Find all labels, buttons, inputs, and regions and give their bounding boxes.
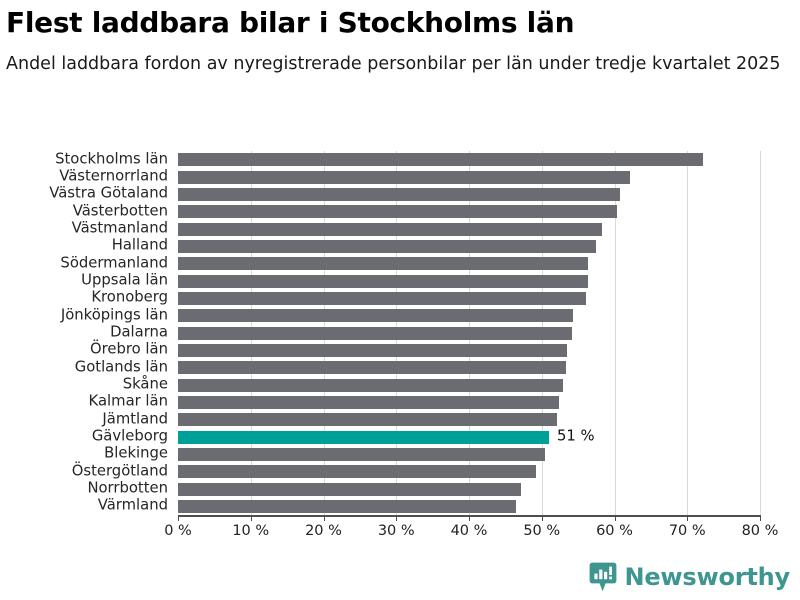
category-label: Dalarna (110, 326, 168, 341)
x-axis-tick (615, 515, 616, 521)
bar-chart-speech-bubble-icon (589, 562, 617, 592)
category-label: Kalmar län (89, 395, 168, 410)
category-label: Södermanland (60, 256, 168, 271)
bar[interactable] (178, 223, 602, 236)
chart-header: Flest laddbara bilar i Stockholms län An… (6, 6, 796, 77)
x-axis-tick-label: 10 % (232, 523, 269, 539)
x-axis-tick (324, 515, 325, 521)
bar-row[interactable]: Gävleborg51 % (178, 431, 760, 444)
x-axis-tick-label: 50 % (523, 523, 560, 539)
bar-row[interactable]: Västmanland (178, 223, 760, 236)
x-axis-tick (760, 515, 761, 521)
category-label: Jönköpings län (61, 308, 168, 323)
category-label: Västmanland (72, 222, 168, 237)
x-axis-tick-label: 70 % (669, 523, 706, 539)
bar[interactable] (178, 413, 557, 426)
category-label: Blekinge (104, 447, 168, 462)
category-label: Örebro län (90, 343, 168, 358)
bar-row[interactable]: Halland (178, 240, 760, 253)
x-axis-tick (396, 515, 397, 521)
gridline (760, 151, 761, 515)
newsworthy-logo-text: Newsworthy (624, 565, 790, 589)
bar[interactable] (178, 361, 566, 374)
chart-root: Flest laddbara bilar i Stockholms län An… (0, 0, 800, 600)
x-axis-tick-label: 30 % (378, 523, 415, 539)
bar[interactable] (178, 205, 617, 218)
x-axis-tick-label: 20 % (305, 523, 342, 539)
bar[interactable] (178, 292, 586, 305)
category-label: Stockholms län (55, 152, 168, 167)
bar[interactable] (178, 240, 596, 253)
category-label: Östergötland (72, 464, 168, 479)
x-axis-tick (469, 515, 470, 521)
bar-row[interactable]: Stockholms län (178, 153, 760, 166)
bar-value-label: 51 % (557, 430, 595, 445)
category-label: Kronoberg (91, 291, 168, 306)
category-label: Gotlands län (75, 360, 168, 375)
bar-row[interactable]: Jämtland (178, 413, 760, 426)
bar-row[interactable]: Gotlands län (178, 361, 760, 374)
page-title: Flest laddbara bilar i Stockholms län (6, 6, 796, 40)
category-label: Uppsala län (81, 274, 168, 289)
footer-branding: Newsworthy (589, 562, 790, 592)
bar[interactable] (178, 465, 536, 478)
bar[interactable] (178, 344, 567, 357)
x-axis-tick-label: 60 % (596, 523, 633, 539)
bar[interactable] (178, 309, 573, 322)
bar-row[interactable]: Västernorrland (178, 171, 760, 184)
category-label: Västernorrland (59, 170, 168, 185)
plot-wrapper: Stockholms länVästernorrlandVästra Götal… (0, 0, 800, 600)
bar-row[interactable]: Dalarna (178, 327, 760, 340)
bar-row[interactable]: Kronoberg (178, 292, 760, 305)
x-axis-tick-label: 40 % (451, 523, 488, 539)
x-axis-tick-label: 80 % (742, 523, 779, 539)
bar-row[interactable]: Örebro län (178, 344, 760, 357)
category-label: Västerbotten (73, 204, 168, 219)
plot-area: Stockholms länVästernorrlandVästra Götal… (178, 151, 760, 515)
bar[interactable] (178, 327, 572, 340)
bar[interactable] (178, 396, 559, 409)
x-axis-tick (542, 515, 543, 521)
chart-subtitle: Andel laddbara fordon av nyregistrerade … (6, 51, 800, 77)
bar[interactable] (178, 153, 703, 166)
bar[interactable] (178, 171, 630, 184)
bar-row[interactable]: Värmland (178, 500, 760, 513)
bar-row[interactable]: Västerbotten (178, 205, 760, 218)
bar[interactable] (178, 448, 545, 461)
bar[interactable] (178, 188, 620, 201)
category-label: Västra Götaland (49, 187, 168, 202)
category-label: Jämtland (102, 412, 168, 427)
x-axis-tick (687, 515, 688, 521)
x-axis-line (178, 515, 761, 517)
category-label: Gävleborg (92, 430, 168, 445)
bar[interactable] (178, 379, 563, 392)
bar-row[interactable]: Skåne (178, 379, 760, 392)
bar-row[interactable]: Kalmar län (178, 396, 760, 409)
bar-row[interactable]: Blekinge (178, 448, 760, 461)
category-label: Värmland (98, 499, 168, 514)
bar-row[interactable]: Östergötland (178, 465, 760, 478)
bar-row[interactable]: Jönköpings län (178, 309, 760, 322)
bar-row[interactable]: Västra Götaland (178, 188, 760, 201)
x-axis-tick-label: 0 % (164, 523, 192, 539)
x-axis-tick (251, 515, 252, 521)
category-label: Skåne (123, 378, 168, 393)
x-axis-tick (178, 515, 179, 521)
category-label: Halland (112, 239, 168, 254)
bar[interactable] (178, 483, 521, 496)
bar-row[interactable]: Södermanland (178, 257, 760, 270)
bar-row[interactable]: Uppsala län (178, 275, 760, 288)
bar-highlighted[interactable] (178, 431, 549, 444)
bar[interactable] (178, 257, 588, 270)
bar[interactable] (178, 500, 516, 513)
bar-row[interactable]: Norrbotten (178, 483, 760, 496)
bar[interactable] (178, 275, 588, 288)
category-label: Norrbotten (87, 482, 168, 497)
